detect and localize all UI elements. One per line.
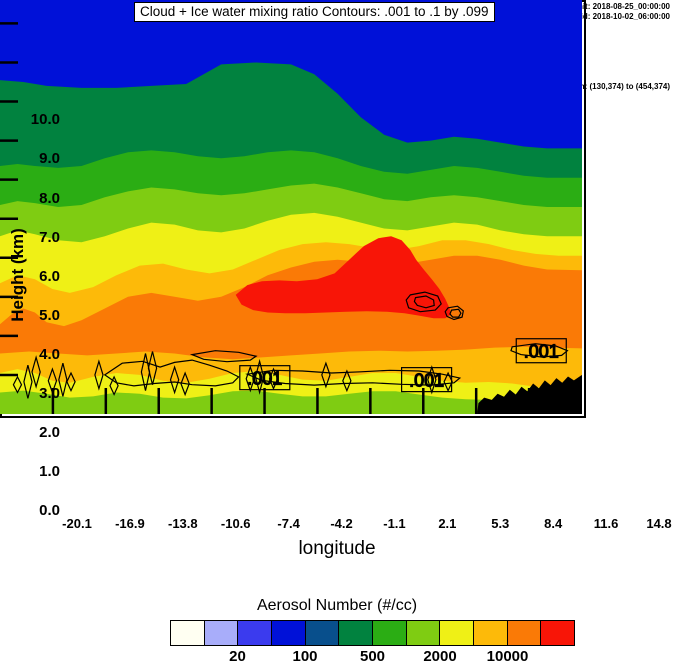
contour-label-1: .001 <box>240 366 290 390</box>
y-tick-label: 10.0 <box>0 111 60 128</box>
x-tick-label: -4.2 <box>312 516 372 531</box>
colorbar-swatch <box>440 621 474 645</box>
contour-field: .001.001.001 <box>0 0 582 414</box>
x-tick-label: -16.9 <box>100 516 160 531</box>
colorbar-swatch <box>238 621 272 645</box>
colorbar-swatch <box>306 621 340 645</box>
colorbar-swatch <box>272 621 306 645</box>
colorbar-swatch <box>205 621 239 645</box>
svg-text:.001: .001 <box>247 369 282 389</box>
colorbar-swatch <box>508 621 542 645</box>
x-tick-label: 8.4 <box>523 516 583 531</box>
y-tick-label: 9.0 <box>0 150 60 167</box>
colorbar-title: Aerosol Number (#/cc) <box>0 597 674 615</box>
x-tick-label: -10.6 <box>206 516 266 531</box>
colorbar-swatch <box>541 621 574 645</box>
contour-label-3: .001 <box>516 339 566 363</box>
colorbar <box>170 620 575 646</box>
y-tick-label: 3.0 <box>0 385 60 402</box>
svg-text:.001: .001 <box>524 342 559 362</box>
x-tick-label: -20.1 <box>47 516 107 531</box>
x-axis-title: longitude <box>0 538 674 560</box>
svg-text:.001: .001 <box>409 371 444 391</box>
contour-label-2: .001 <box>402 368 452 392</box>
valid-time-label: Valid: 2018-10-02_06:00:00 <box>569 12 670 21</box>
y-tick-label: 1.0 <box>0 463 60 480</box>
x-tick-label: 11.6 <box>576 516 636 531</box>
x-tick-label: -7.4 <box>259 516 319 531</box>
y-tick-label: 8.0 <box>0 190 60 207</box>
colorbar-swatch <box>339 621 373 645</box>
colorbar-swatch <box>373 621 407 645</box>
x-tick-label: 2.1 <box>417 516 477 531</box>
x-tick-label: -1.1 <box>364 516 424 531</box>
y-tick-label: 2.0 <box>0 424 60 441</box>
colorbar-tick-label: 10000 <box>468 648 548 665</box>
x-tick-label: 14.8 <box>629 516 674 531</box>
colorbar-swatch <box>171 621 205 645</box>
x-tick-label: 5.3 <box>470 516 530 531</box>
colorbar-swatch <box>474 621 508 645</box>
y-tick-label: 4.0 <box>0 346 60 363</box>
y-tick-label: 5.0 <box>0 307 60 324</box>
init-time-label: Init: 2018-08-25_00:00:00 <box>576 2 670 11</box>
y-tick-label: 7.0 <box>0 229 60 246</box>
contour-title-box: Cloud + Ice water mixing ratio Contours:… <box>134 2 495 22</box>
x-tick-label: -13.8 <box>153 516 213 531</box>
y-tick-label: 6.0 <box>0 268 60 285</box>
colorbar-swatch <box>407 621 441 645</box>
plot-area: .001.001.001 Cloud + Ice water mixing ra… <box>0 0 586 418</box>
